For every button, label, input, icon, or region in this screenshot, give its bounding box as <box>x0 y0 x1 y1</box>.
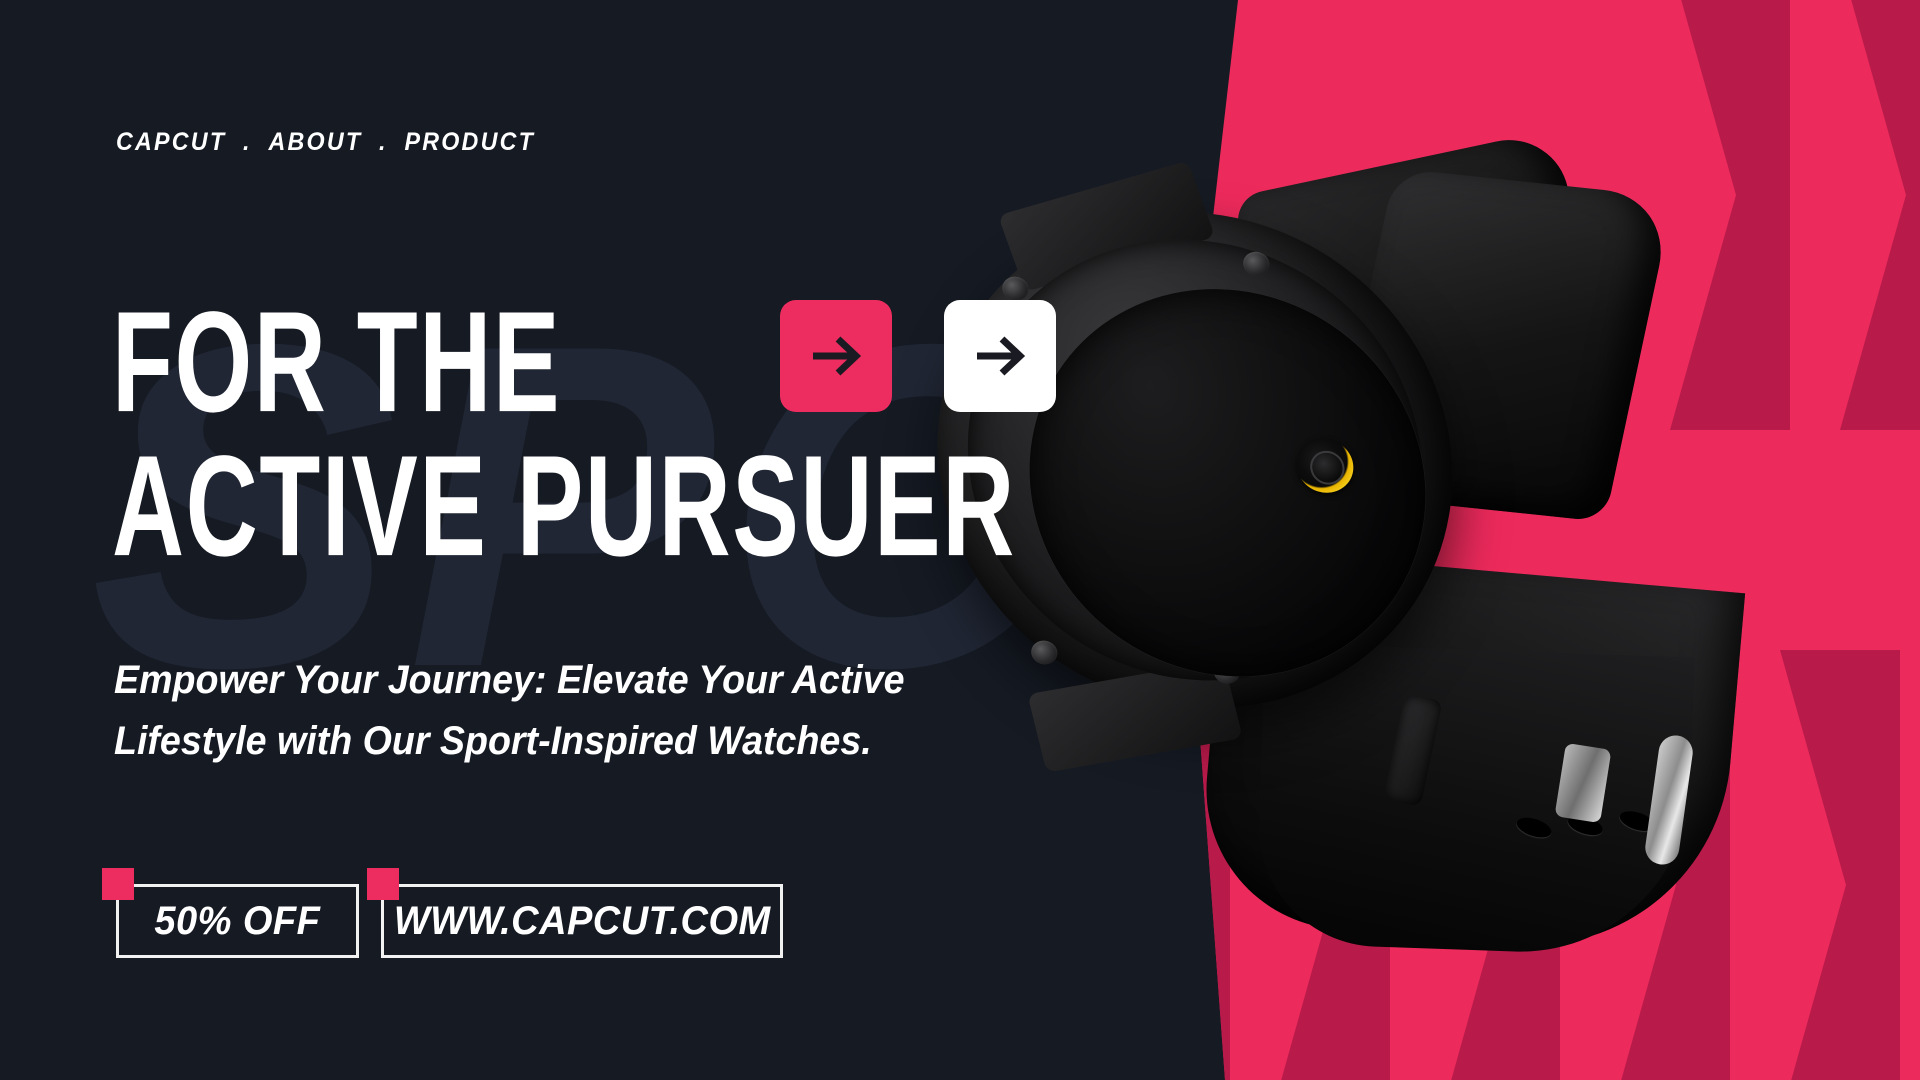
arrow-right-icon <box>805 325 867 387</box>
accent-square-icon <box>367 868 399 900</box>
main-navigation: CAPCUT . ABOUT . PRODUCT <box>116 128 535 157</box>
promo-banner: SPO <box>0 0 1920 1080</box>
arrow-right-icon <box>969 325 1031 387</box>
offer-badge-frame: 50% OFF <box>116 884 359 958</box>
arrow-button-group <box>780 300 1056 412</box>
nav-item-product[interactable]: PRODUCT <box>404 128 535 157</box>
website-label: WWW.CAPCUT.COM <box>394 899 771 944</box>
offer-badge[interactable]: 50% OFF <box>116 868 359 958</box>
nav-separator: . <box>243 128 252 157</box>
headline-line-2: ACTIVE PURSUER <box>112 441 1016 573</box>
nav-item-about[interactable]: ABOUT <box>268 128 362 157</box>
headline-block: FOR THE <box>112 300 1271 566</box>
subtitle-text: Empower Your Journey: Elevate Your Activ… <box>114 650 941 772</box>
next-button-primary[interactable] <box>780 300 892 412</box>
nav-separator: . <box>379 128 388 157</box>
bezel-screw-icon <box>1242 251 1271 277</box>
nav-item-capcut[interactable]: CAPCUT <box>116 128 226 157</box>
cta-row: 50% OFF WWW.CAPCUT.COM <box>116 868 783 958</box>
next-button-secondary[interactable] <box>944 300 1056 412</box>
watch-strap-lower-inner <box>1255 643 1695 958</box>
headline-line-1: FOR THE <box>112 297 561 429</box>
website-badge[interactable]: WWW.CAPCUT.COM <box>381 868 783 958</box>
headline-row-1: FOR THE <box>112 300 1271 426</box>
content-column: CAPCUT . ABOUT . PRODUCT FOR THE <box>0 0 1150 1080</box>
offer-label: 50% OFF <box>155 899 321 944</box>
accent-square-icon <box>102 868 134 900</box>
website-badge-frame: WWW.CAPCUT.COM <box>381 884 783 958</box>
